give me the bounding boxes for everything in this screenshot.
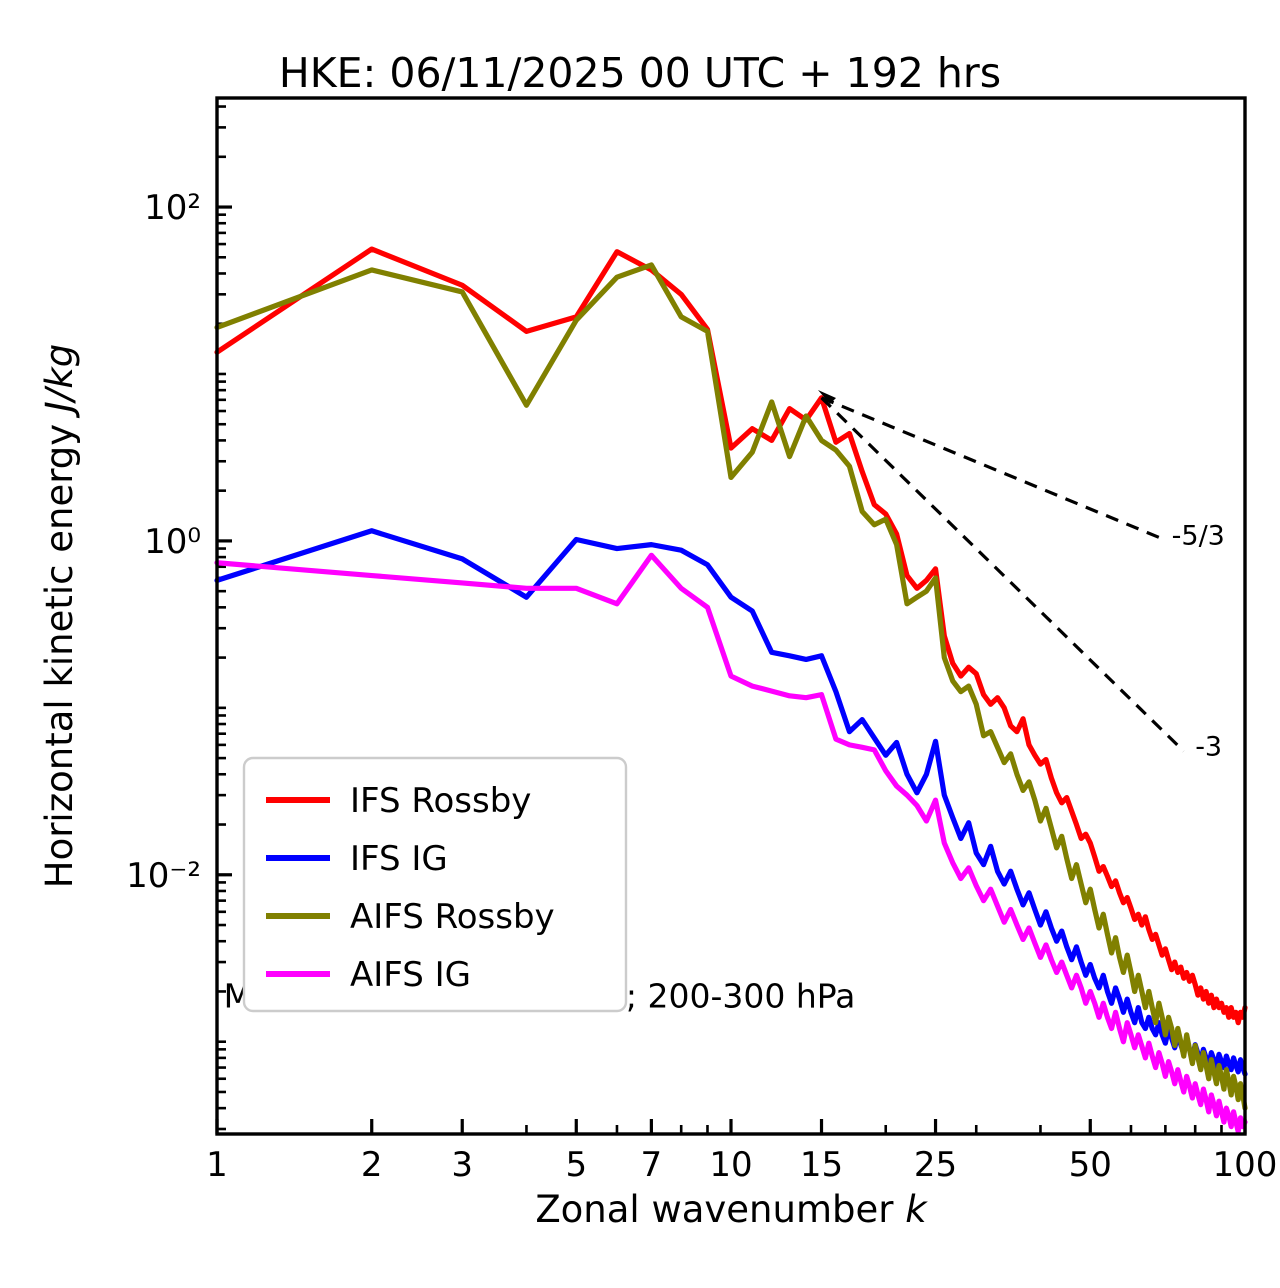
x-tick-label: 100 <box>1213 1145 1278 1185</box>
y-axis-label: Horizontal kinetic energy J/kg <box>38 344 81 888</box>
y-axis-tick-labels: 10²10⁰10⁻² <box>126 188 201 896</box>
legend-label-ifs-rossby: IFS Rossby <box>350 781 531 821</box>
x-tick-label: 50 <box>1069 1145 1112 1185</box>
legend-label-ifs-ig: IFS IG <box>350 839 448 879</box>
x-axis-tickmarks <box>217 1119 1245 1134</box>
slope-annotation-53: -5/3 <box>1172 521 1225 552</box>
legend-label-aifs-rossby: AIFS Rossby <box>350 897 555 937</box>
x-tick-label: 10 <box>709 1145 752 1185</box>
x-axis-label: Zonal wavenumber k <box>535 1188 928 1231</box>
slope-annotation-3: -3 <box>1195 731 1222 762</box>
y-tick-label: 10⁻² <box>126 856 201 896</box>
chart-svg: HKE: 06/11/2025 00 UTC + 192 hrs 1235710… <box>0 0 1280 1288</box>
chart-legend[interactable]: IFS RossbyIFS IGAIFS RossbyAIFS IG <box>244 758 626 1011</box>
y-axis-tickmarks <box>217 107 232 1129</box>
y-tick-label: 10² <box>144 188 201 228</box>
figure-canvas: HKE: 06/11/2025 00 UTC + 192 hrs 1235710… <box>0 0 1280 1288</box>
x-tick-label: 1 <box>206 1145 228 1185</box>
x-tick-label: 25 <box>914 1145 957 1185</box>
x-axis-tick-labels: 1235710152550100 <box>206 1145 1277 1185</box>
x-tick-label: 15 <box>800 1145 843 1185</box>
x-tick-label: 2 <box>361 1145 383 1185</box>
legend-label-aifs-ig: AIFS IG <box>350 955 471 995</box>
y-tick-label: 10⁰ <box>144 522 201 562</box>
reference-slope-lines <box>822 398 1184 751</box>
reference-line-3 <box>822 398 1184 751</box>
reference-line-53 <box>822 398 1159 538</box>
chart-title: HKE: 06/11/2025 00 UTC + 192 hrs <box>279 49 1001 97</box>
x-tick-label: 5 <box>565 1145 587 1185</box>
x-tick-label: 7 <box>641 1145 663 1185</box>
x-tick-label: 3 <box>451 1145 473 1185</box>
